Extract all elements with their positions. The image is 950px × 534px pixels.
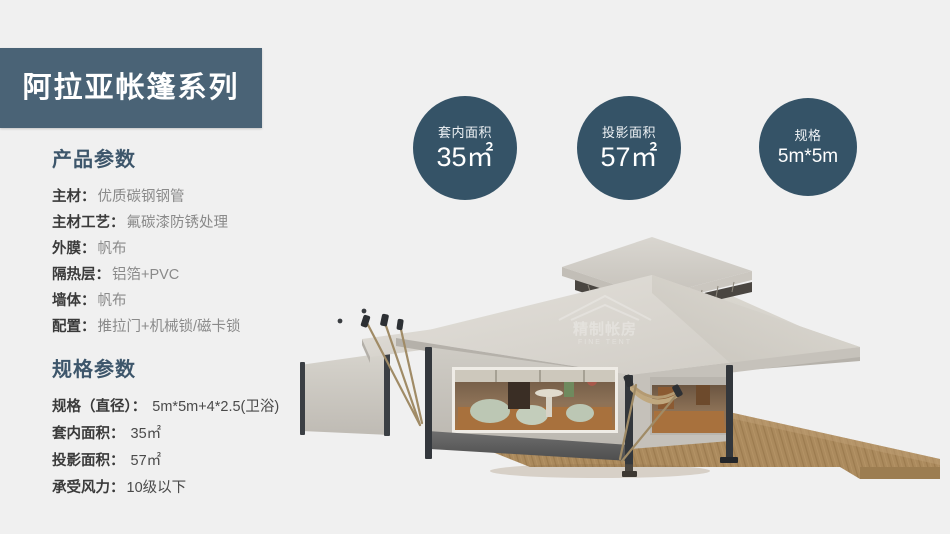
spec-value: 57㎡ [127,453,162,469]
spec-row: 主材工艺：氟碳漆防锈处理 [52,210,352,236]
spec-value: 帆布 [98,293,127,309]
page-title: 阿拉亚帐篷系列 [22,74,239,103]
spec-value: 氟碳漆防锈处理 [127,215,229,231]
spec-value: 铝箔+PVC [112,267,179,283]
spec-row: 主材：优质碳钢钢管 [52,184,352,210]
spec-value: 35㎡ [127,426,162,442]
spec-label: 主材： [52,189,96,205]
spec-label: 墙体： [52,293,96,309]
spec-value: 5m*5m+4*2.5(卫浴) [148,399,279,415]
tent-illustration: 精制帐房 FINE TENT [300,235,950,505]
spec-label: 投影面积： [52,453,125,469]
spec-label: 套内面积： [52,426,125,442]
product-parameters-heading: 产品参数 [52,150,352,170]
stat-badge-interior-area: 套内面积 35㎡ [413,96,517,200]
stat-badge-value: 57㎡ [600,144,657,171]
stat-badge-projected-area: 投影面积 57㎡ [577,96,681,200]
stat-badge-label: 投影面积 [602,126,656,139]
spec-label: 配置： [52,319,96,335]
series-title-banner: 阿拉亚帐篷系列 [0,48,262,128]
spec-label: 规格（直径）： [52,399,146,415]
stat-badge-dimensions: 规格 5m*5m [759,98,857,196]
spec-value: 10级以下 [127,480,187,496]
spec-value: 优质碳钢钢管 [98,189,185,205]
stat-badge-value: 35㎡ [436,144,493,171]
spec-label: 隔热层： [52,267,110,283]
spec-value: 推拉门+机械锁/磁卡锁 [98,319,241,335]
stat-badge-value: 5m*5m [778,147,838,166]
stat-badge-label: 规格 [794,129,821,142]
page-root: 阿拉亚帐篷系列 产品参数 主材：优质碳钢钢管 主材工艺：氟碳漆防锈处理 外膜：帆… [0,0,950,534]
spec-label: 承受风力： [52,480,125,496]
spec-value: 帆布 [98,241,127,257]
spec-label: 外膜： [52,241,96,257]
spec-label: 主材工艺： [52,215,125,231]
stat-badge-label: 套内面积 [438,126,492,139]
stat-badge-row: 套内面积 35㎡ 投影面积 57㎡ 规格 5m*5m [405,88,925,208]
